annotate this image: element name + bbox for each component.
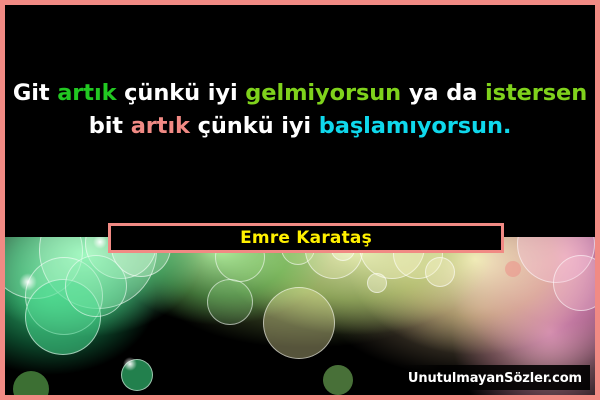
quote-text: Git artık çünkü iyi gelmiyorsun ya da is… (10, 77, 590, 143)
bokeh-circle (367, 273, 387, 293)
author-name: Emre Karataş (240, 230, 372, 247)
quote-word-highlight-cyan: başlamıyorsun. (319, 113, 512, 139)
bokeh-glint (19, 273, 37, 291)
quote-word-highlight-yellowgreen: gelmiyorsun (245, 80, 401, 106)
quote-word-highlight-green: artık (57, 80, 116, 106)
author-box: Emre Karataş (108, 223, 504, 253)
quote-word-highlight-salmon: artık (131, 113, 190, 139)
watermark-container: UnutulmayanSözler.com (396, 365, 590, 390)
bokeh-circle (505, 261, 521, 277)
quote-word-plain: bit (89, 113, 131, 139)
bokeh-glint (123, 357, 137, 371)
quote-word-plain: çünkü iyi (190, 113, 319, 139)
quote-word-highlight-yellowgreen: istersen (485, 80, 587, 106)
bokeh-circle (65, 255, 127, 317)
quote-card: Git artık çünkü iyi gelmiyorsun ya da is… (0, 0, 600, 400)
quote-word-plain: çünkü iyi (116, 80, 245, 106)
bokeh-circle (263, 287, 335, 359)
bokeh-circle (425, 257, 455, 287)
bokeh-circle (323, 365, 353, 395)
quote-word-plain: Git (13, 80, 57, 106)
quote-word-plain: ya da (401, 80, 485, 106)
site-watermark: UnutulmayanSözler.com (408, 371, 582, 386)
bokeh-circle (207, 279, 253, 325)
